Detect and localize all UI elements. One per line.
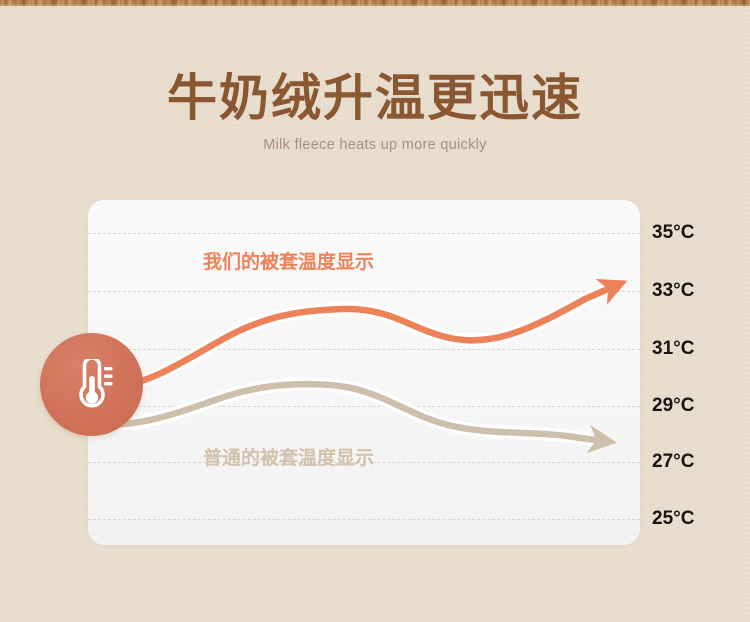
- ytick-label-27: 27°C: [652, 451, 694, 473]
- thermometer-badge: [40, 333, 143, 436]
- ytick-label-31: 31°C: [652, 338, 694, 360]
- ytick-label-35: 35°C: [652, 222, 694, 244]
- ytick-label-33: 33°C: [652, 280, 694, 302]
- thermometer-icon: [67, 359, 117, 411]
- ytick-label-25: 25°C: [652, 508, 694, 530]
- series-label-ours: 我们的被套温度显示: [203, 247, 374, 274]
- ours-curve-glow: [108, 288, 612, 388]
- page-root: 牛奶绒升温更迅速 Milk fleece heats up more quick…: [0, 0, 750, 622]
- series-label-normal: 普通的被套温度显示: [203, 443, 374, 470]
- chart-curves: [0, 0, 750, 622]
- ytick-label-29: 29°C: [652, 395, 694, 417]
